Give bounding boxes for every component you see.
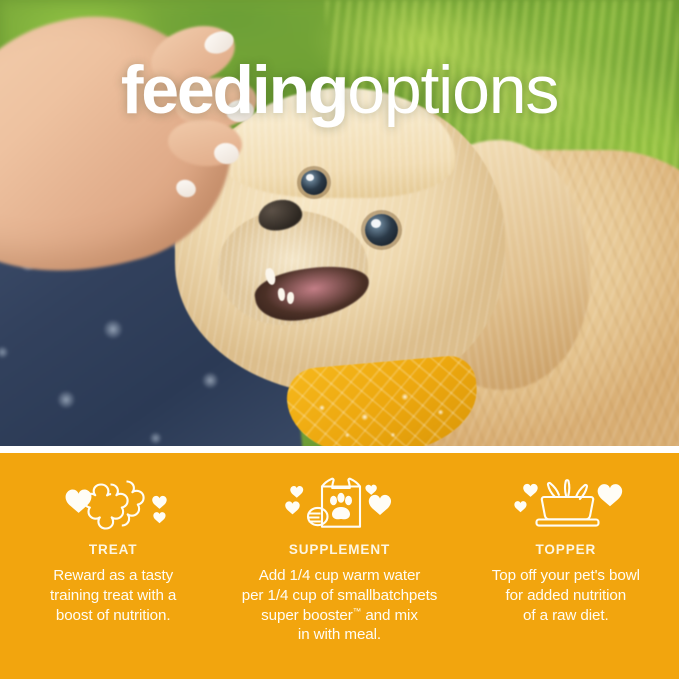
body-line: Reward as a tasty <box>50 566 176 586</box>
bandana-pattern <box>284 354 481 446</box>
feeding-option-title: TREAT <box>89 542 138 557</box>
feeding-option-topper: TOPPER Top off your pet's bowl for added… <box>453 473 679 625</box>
food-bag-paw-scoop-hearts-icon <box>278 473 400 535</box>
page-title-light: options <box>347 52 558 128</box>
body-line: training treat with a <box>50 586 176 606</box>
body-line: in with meal. <box>242 625 438 645</box>
hero-photo: feedingoptions <box>0 0 679 446</box>
body-line: for added nutrition <box>492 586 640 606</box>
body-line-trademark: super booster™ and mix <box>242 606 438 626</box>
dog-eye-left <box>301 170 327 195</box>
dog-eye-highlight <box>371 219 381 228</box>
dog-bandana <box>284 354 481 446</box>
feeding-option-body: Top off your pet's bowl for added nutrit… <box>492 566 640 625</box>
feeding-option-supplement: SUPPLEMENT Add 1/4 cup warm water per 1/… <box>226 473 452 645</box>
feeding-option-treat: TREAT Reward as a tasty training treat w… <box>0 473 226 625</box>
page-title: feedingoptions <box>0 56 679 124</box>
feeding-options-infographic: feedingoptions TREAT Reward as a tas <box>0 0 679 679</box>
feeding-option-title: TOPPER <box>535 542 596 557</box>
page-title-bold: feeding <box>121 52 347 128</box>
body-line: boost of nutrition. <box>50 606 176 626</box>
feeding-option-title: SUPPLEMENT <box>289 542 390 557</box>
food-bowl-hearts-icon <box>506 473 626 535</box>
body-line: of a raw diet. <box>492 606 640 626</box>
section-divider <box>0 446 679 453</box>
body-line: per 1/4 cup of smallbatchpets <box>242 586 438 606</box>
dog-eye-highlight <box>306 174 314 181</box>
feeding-option-body: Add 1/4 cup warm water per 1/4 cup of sm… <box>242 566 438 645</box>
dog-bone-hearts-icon <box>53 473 173 535</box>
body-line: Add 1/4 cup warm water <box>242 566 438 586</box>
body-line: Top off your pet's bowl <box>492 566 640 586</box>
dog-eye-right <box>365 214 398 246</box>
feeding-options-panel: TREAT Reward as a tasty training treat w… <box>0 453 679 679</box>
feeding-option-body: Reward as a tasty training treat with a … <box>50 566 176 625</box>
